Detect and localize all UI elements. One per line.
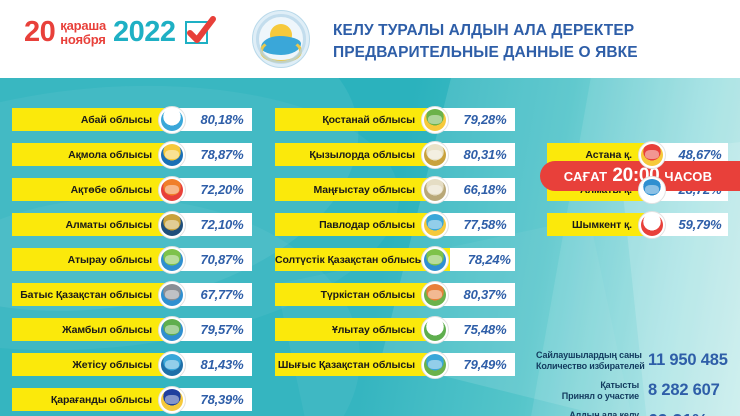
region-name: Алматы облысы [12, 213, 178, 236]
result-row[interactable]: Атырау облысы70,87% [12, 248, 252, 271]
result-row[interactable]: Шығыс Қазақстан облысы79,49% [275, 353, 515, 376]
date-month-group: қараша ноября [60, 19, 106, 46]
turkistan-region-emblem [421, 281, 449, 309]
election-date: 20 қараша ноября 2022 [24, 18, 208, 47]
region-name: Қарағанды облысы [12, 388, 178, 411]
result-row[interactable]: Қарағанды облысы78,39% [12, 388, 252, 411]
region-name: Маңғыстау облысы [275, 178, 441, 201]
turnout-percent: 77,58% [441, 213, 515, 236]
stat-label-ru: Принял о участие [536, 391, 639, 402]
region-name: Ұлытау облысы [275, 318, 441, 341]
shymkent-city-emblem [638, 211, 666, 239]
turnout-percent: 72,20% [178, 178, 252, 201]
region-name: Батыс Қазақстан облысы [12, 283, 178, 306]
region-name: Жетісу облысы [12, 353, 178, 376]
akmola-region-emblem [158, 141, 186, 169]
turnout-percent: 79,28% [441, 108, 515, 131]
turnout-percent: 79,49% [441, 353, 515, 376]
atyrau-region-emblem [158, 246, 186, 274]
stat-value: 69,31% [648, 411, 708, 416]
time-badge-prefix: САҒАТ [564, 169, 608, 184]
pavlodar-region-emblem [421, 211, 449, 239]
stat-item: ҚатыстыПринял о участие8 282 607 [536, 380, 740, 401]
result-row[interactable]: Алматы облысы72,10% [12, 213, 252, 236]
turnout-percent: 78,87% [178, 143, 252, 166]
east-kazakhstan-region-emblem [421, 351, 449, 379]
mangystau-region-emblem [421, 176, 449, 204]
result-row[interactable]: Қызылорда облысы80,31% [275, 143, 515, 166]
region-name: Қостанай облысы [275, 108, 441, 131]
title-ru: ПРЕДВАРИТЕЛЬНЫЕ ДАННЫЕ О ЯВКЕ [333, 42, 733, 64]
region-name: Түркістан облысы [275, 283, 441, 306]
region-name: Атырау облысы [12, 248, 178, 271]
checkmark-icon [185, 21, 208, 44]
region-name: Жамбыл облысы [12, 318, 178, 341]
result-row[interactable]: Абай облысы80,18% [12, 108, 252, 131]
result-row[interactable]: Ақтөбе облысы72,20% [12, 178, 252, 201]
title-kk: КЕЛУ ТУРАЛЫ АЛДЫН АЛА ДЕРЕКТЕР [333, 20, 733, 42]
turnout-percent: 78,39% [178, 388, 252, 411]
stat-value: 8 282 607 [648, 381, 720, 400]
astana-city-emblem [638, 141, 666, 169]
karaganda-region-emblem [158, 386, 186, 414]
header-bar: 20 қараша ноября 2022 КЕЛУ ТУРАЛЫ АЛДЫН … [0, 0, 740, 78]
turnout-percent: 79,57% [178, 318, 252, 341]
almaty-city-emblem [638, 176, 666, 204]
result-row[interactable]: Солтүстік Қазақстан облысы78,24% [275, 248, 515, 271]
page-title: КЕЛУ ТУРАЛЫ АЛДЫН АЛА ДЕРЕКТЕР ПРЕДВАРИТ… [333, 20, 733, 65]
zhetysu-region-emblem [158, 351, 186, 379]
turnout-percent: 59,79% [658, 213, 728, 236]
west-kazakhstan-region-emblem [158, 281, 186, 309]
cec-kazakhstan-emblem [252, 10, 310, 68]
summary-statistics: Сайлаушылардың саныКоличество избирателе… [536, 350, 740, 416]
result-row[interactable]: Ұлытау облысы75,48% [275, 318, 515, 341]
result-row[interactable]: Маңғыстау облысы66,18% [275, 178, 515, 201]
kyzylorda-region-emblem [421, 141, 449, 169]
result-row[interactable]: Шымкент қ.59,79% [547, 213, 728, 236]
date-month-kk: қараша [60, 19, 106, 33]
result-row[interactable]: Батыс Қазақстан облысы67,77% [12, 283, 252, 306]
stat-label-group: Сайлаушылардың саныКоличество избирателе… [536, 350, 648, 371]
results-canvas: Абай облысы80,18%Ақмола облысы78,87%Ақтө… [0, 78, 740, 416]
stat-label-kk: Қатысты [536, 380, 639, 391]
zhambyl-region-emblem [158, 316, 186, 344]
almaty-region-emblem [158, 211, 186, 239]
turnout-percent: 81,43% [178, 353, 252, 376]
north-kazakhstan-region-emblem [421, 246, 449, 274]
turnout-percent: 67,77% [178, 283, 252, 306]
stat-item: Сайлаушылардың саныКоличество избирателе… [536, 350, 740, 371]
stat-label-kk: Алдын ала келу [536, 410, 639, 416]
date-month-ru: ноября [60, 33, 106, 47]
turnout-percent: 66,18% [441, 178, 515, 201]
turnout-percent: 70,87% [178, 248, 252, 271]
stat-value: 11 950 485 [648, 351, 728, 370]
turnout-percent: 80,31% [441, 143, 515, 166]
result-row[interactable]: Ақмола облысы78,87% [12, 143, 252, 166]
turnout-percent: 80,18% [178, 108, 252, 131]
stat-label-kk: Сайлаушылардың саны [536, 350, 639, 361]
result-row[interactable]: Түркістан облысы80,37% [275, 283, 515, 306]
region-name: Ақтөбе облысы [12, 178, 178, 201]
turnout-percent: 80,37% [441, 283, 515, 306]
turnout-percent: 75,48% [441, 318, 515, 341]
result-row[interactable]: Жетісу облысы81,43% [12, 353, 252, 376]
region-name: Абай облысы [12, 108, 178, 131]
kostanay-region-emblem [421, 106, 449, 134]
date-year: 2022 [113, 18, 176, 47]
turnout-percent: 78,24% [450, 248, 515, 271]
stat-label-group: Алдын ала келуПредварительная явка [536, 410, 648, 416]
result-row[interactable]: Қостанай облысы79,28% [275, 108, 515, 131]
stat-item: Алдын ала келуПредварительная явка69,31% [536, 410, 740, 416]
ulytau-region-emblem [421, 316, 449, 344]
turnout-percent: 72,10% [178, 213, 252, 236]
region-name: Шығыс Қазақстан облысы [275, 353, 441, 376]
date-day: 20 [24, 18, 55, 47]
aktobe-region-emblem [158, 176, 186, 204]
time-badge-suffix: ЧАСОВ [664, 169, 712, 184]
stat-label-ru: Количество избирателей [536, 361, 639, 372]
abai-region-emblem [158, 106, 186, 134]
result-row[interactable]: Жамбыл облысы79,57% [12, 318, 252, 341]
region-name: Ақмола облысы [12, 143, 178, 166]
region-name: Қызылорда облысы [275, 143, 441, 166]
region-name: Павлодар облысы [275, 213, 441, 236]
result-row[interactable]: Павлодар облысы77,58% [275, 213, 515, 236]
stat-label-group: ҚатыстыПринял о участие [536, 380, 648, 401]
